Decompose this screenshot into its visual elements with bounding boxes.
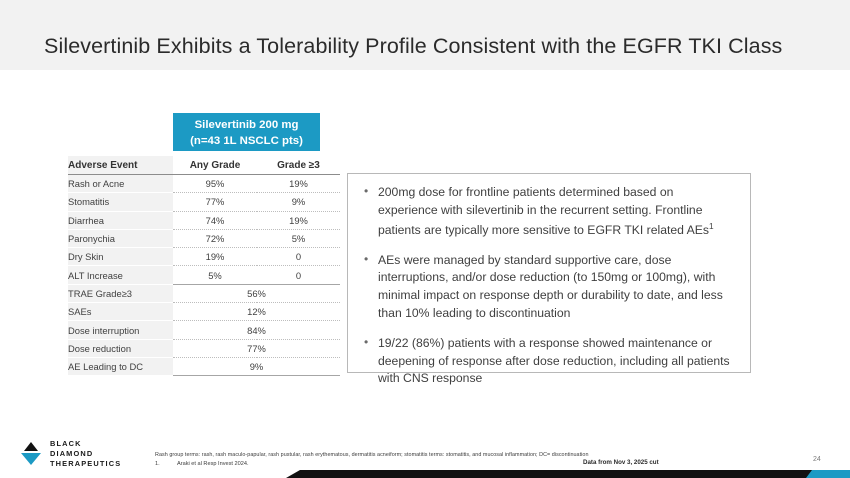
cell-any-grade: 95% — [173, 175, 257, 193]
bullet-item: 200mg dose for frontline patients determ… — [356, 184, 736, 240]
logo-line-2: DIAMOND — [50, 449, 93, 458]
cell-adverse-event: SAEs — [68, 303, 173, 321]
bullet-text: AEs were managed by standard supportive … — [378, 253, 723, 320]
table-row: Stomatitis77%9% — [68, 193, 340, 211]
logo-line-1: BLACK — [50, 439, 82, 448]
cell-adverse-event: Rash or Acne — [68, 175, 173, 193]
column-header-adverse-event: Adverse Event — [68, 156, 173, 175]
table-row: Dry Skin19%0 — [68, 248, 340, 266]
cell-grade-3: 19% — [257, 175, 340, 193]
cell-any-grade: 5% — [173, 266, 257, 284]
bullet-text: 19/22 (86%) patients with a response sho… — [378, 336, 730, 386]
cell-value-combined: 84% — [173, 321, 340, 339]
cell-grade-3: 5% — [257, 229, 340, 247]
cell-adverse-event: Dose interruption — [68, 321, 173, 339]
bullet-item: 19/22 (86%) patients with a response sho… — [356, 335, 736, 388]
cell-any-grade: 19% — [173, 248, 257, 266]
black-diamond-logo-icon — [18, 440, 44, 466]
bullet-superscript: 1 — [709, 221, 714, 231]
cell-grade-3: 0 — [257, 248, 340, 266]
table-row: Dose interruption84% — [68, 321, 340, 339]
drug-arm-header-line1: Silevertinib 200 mg — [173, 117, 320, 133]
column-header-any-grade: Any Grade — [173, 156, 257, 175]
key-takeaways-box: 200mg dose for frontline patients determ… — [347, 173, 751, 373]
cell-adverse-event: Dry Skin — [68, 248, 173, 266]
cell-value-combined: 12% — [173, 303, 340, 321]
page-title: Silevertinib Exhibits a Tolerability Pro… — [44, 34, 782, 59]
table-row: ALT Increase5%0 — [68, 266, 340, 284]
data-cut-label: Data from Nov 3, 2025 cut — [583, 459, 659, 466]
cell-any-grade: 77% — [173, 193, 257, 211]
table-row: TRAE Grade≥356% — [68, 284, 340, 302]
cell-any-grade: 72% — [173, 229, 257, 247]
bullet-text: 200mg dose for frontline patients determ… — [378, 185, 709, 237]
page-number: 24 — [813, 456, 821, 463]
cell-any-grade: 74% — [173, 211, 257, 229]
table-row: Diarrhea74%19% — [68, 211, 340, 229]
drug-arm-header: Silevertinib 200 mg (n=43 1L NSCLC pts) — [173, 113, 320, 151]
table-row: Dose reduction77% — [68, 339, 340, 357]
cell-grade-3: 9% — [257, 193, 340, 211]
footnote-reference-text: Araki et al Resp Invest 2024. — [177, 461, 249, 467]
cell-adverse-event: Paronychia — [68, 229, 173, 247]
cell-grade-3: 0 — [257, 266, 340, 284]
cell-adverse-event: Stomatitis — [68, 193, 173, 211]
adverse-events-table: Adverse Event Any Grade Grade ≥3 Rash or… — [68, 156, 340, 376]
footer-bar-black — [0, 470, 812, 478]
drug-arm-header-line2: (n=43 1L NSCLC pts) — [173, 133, 320, 149]
footnote-terms: Rash group terms: rash, rash maculo-papu… — [155, 452, 589, 458]
table-row: Paronychia72%5% — [68, 229, 340, 247]
column-header-grade-3: Grade ≥3 — [257, 156, 340, 175]
cell-value-combined: 77% — [173, 339, 340, 357]
cell-adverse-event: Diarrhea — [68, 211, 173, 229]
table-row: Rash or Acne95%19% — [68, 175, 340, 193]
cell-value-combined: 9% — [173, 357, 340, 375]
logo-line-3: THERAPEUTICS — [50, 459, 121, 468]
footnote-reference: 1.Araki et al Resp Invest 2024. — [155, 461, 249, 467]
footnote-reference-number: 1. — [155, 461, 177, 467]
table-row: SAEs12% — [68, 303, 340, 321]
cell-value-combined: 56% — [173, 284, 340, 302]
cell-adverse-event: Dose reduction — [68, 339, 173, 357]
table-body: Rash or Acne95%19%Stomatitis77%9%Diarrhe… — [68, 175, 340, 376]
cell-adverse-event: ALT Increase — [68, 266, 173, 284]
company-logo-text: BLACK DIAMOND THERAPEUTICS — [50, 439, 121, 469]
footer-bar-accent — [806, 470, 850, 478]
table-header-row: Adverse Event Any Grade Grade ≥3 — [68, 156, 340, 175]
bullet-item: AEs were managed by standard supportive … — [356, 252, 736, 323]
cell-adverse-event: AE Leading to DC — [68, 357, 173, 375]
company-logo: BLACK DIAMOND THERAPEUTICS — [18, 438, 143, 470]
table-row: AE Leading to DC9% — [68, 357, 340, 375]
cell-grade-3: 19% — [257, 211, 340, 229]
bullet-list: 200mg dose for frontline patients determ… — [356, 184, 736, 388]
cell-adverse-event: TRAE Grade≥3 — [68, 284, 173, 302]
